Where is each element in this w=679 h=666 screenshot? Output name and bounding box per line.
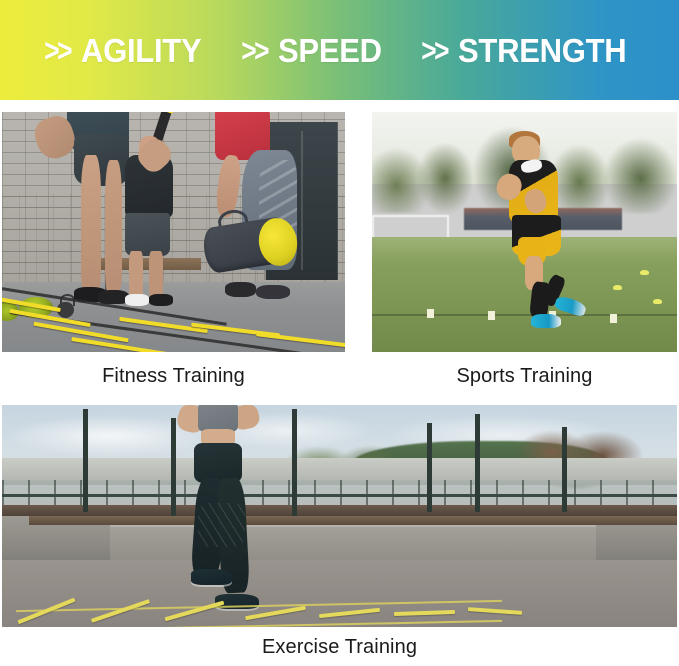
caption-exercise-training: Exercise Training: [2, 637, 677, 657]
banner-label-agility: AGILITY: [81, 34, 201, 67]
vertical-post: [171, 418, 176, 516]
woman-leggings-waist: [194, 443, 241, 483]
banner-label-strength: STRENGTH: [458, 34, 626, 67]
athlete-leg: [149, 251, 163, 299]
ladder-marker: [427, 309, 434, 318]
athlete-leg: [81, 155, 102, 294]
photo-exercise-training: [2, 405, 677, 627]
field-cone: [653, 299, 662, 304]
athlete-shoe: [149, 294, 173, 306]
woman-sports-bra: [198, 405, 239, 432]
vertical-post: [292, 409, 297, 516]
ladder-marker: [610, 314, 617, 323]
banner-items: >> AGILITY >> SPEED >> STRENGTH: [0, 34, 679, 67]
photo-sports-training: [372, 112, 677, 352]
double-chevron-icon: >>: [44, 34, 70, 67]
bleacher-row: [29, 516, 677, 525]
athlete-leg: [129, 251, 143, 299]
caption-fitness-training: Fitness Training: [2, 366, 345, 386]
banner-item-agility: >> AGILITY: [42, 34, 209, 67]
athlete-leg: [105, 160, 122, 292]
vertical-post: [427, 423, 432, 512]
feature-banner: >> AGILITY >> SPEED >> STRENGTH: [0, 0, 679, 100]
vertical-post: [475, 414, 480, 512]
leggings-mesh-panel: [198, 503, 245, 547]
athlete-shoe: [125, 294, 149, 306]
banner-item-strength: >> STRENGTH: [419, 34, 637, 67]
field-cone: [613, 285, 622, 290]
double-chevron-icon: >>: [421, 34, 447, 67]
athlete-shoe: [225, 282, 256, 296]
field-cone: [640, 270, 649, 275]
vertical-post: [562, 427, 567, 511]
ladder-line: [372, 314, 677, 316]
banner-label-speed: SPEED: [278, 34, 382, 67]
vertical-post: [83, 409, 88, 511]
banner-item-speed: >> SPEED: [239, 34, 389, 67]
ladder-marker: [488, 311, 495, 320]
double-chevron-icon: >>: [241, 34, 267, 67]
bleacher-row: [2, 505, 677, 516]
athlete-shoe: [98, 290, 129, 304]
photo-fitness-training: [2, 112, 345, 352]
boy-football-boot: [531, 314, 562, 328]
woman-running-shoe: [191, 569, 232, 585]
caption-sports-training: Sports Training: [372, 366, 677, 386]
railing: [2, 494, 677, 497]
product-infographic: >> AGILITY >> SPEED >> STRENGTH: [0, 0, 679, 666]
athlete-shoe: [256, 285, 290, 299]
athlete-shorts: [125, 213, 170, 256]
